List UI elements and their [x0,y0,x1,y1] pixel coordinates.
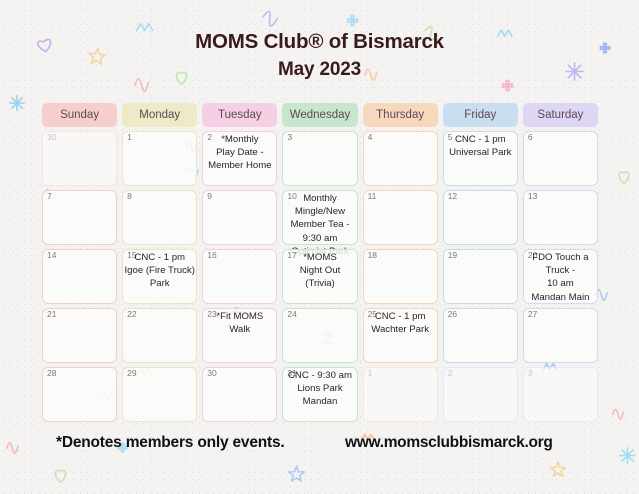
day-cell[interactable]: 22 [122,308,197,363]
calendar-weeks: 3012*Monthly Play Date - Member Home345C… [42,131,598,422]
day-number: 16 [207,251,216,260]
day-cell[interactable]: 16 [202,249,277,304]
day-cell[interactable]: 11 [363,190,438,245]
day-number: 24 [287,310,296,319]
day-cell[interactable]: 14 [42,249,117,304]
calendar-month-label: May 2023 [0,59,639,81]
calendar-grid: SundayMondayTuesdayWednesdayThursdayFrid… [42,103,598,426]
day-number: 1 [127,133,132,142]
day-number: 28 [47,369,56,378]
day-number: 1 [368,369,373,378]
weekday-header-thursday: Thursday [363,103,438,127]
day-cell[interactable]: 7 [42,190,117,245]
day-cell[interactable]: 18 [363,249,438,304]
day-number: 27 [528,310,537,319]
day-event-text[interactable]: *Fit MOMS Walk [200,310,279,336]
day-cell[interactable]: 27 [523,308,598,363]
day-cell[interactable]: 1 [363,367,438,422]
weekday-header-friday: Friday [443,103,518,127]
weekday-header-monday: Monday [122,103,197,127]
day-cell[interactable]: 10Monthly Mingle/New Member Tea - 9:30 a… [282,190,357,245]
members-only-note: *Denotes members only events. [56,434,285,452]
day-cell[interactable]: 4 [363,131,438,186]
weekday-header-wednesday: Wednesday [282,103,357,127]
day-number: 18 [368,251,377,260]
day-number: 4 [368,133,373,142]
day-number: 12 [448,192,457,201]
weekday-header-saturday: Saturday [523,103,598,127]
day-cell[interactable]: 13 [523,190,598,245]
day-cell[interactable]: 15CNC - 1 pm Igoe (Fire Truck) Park [122,249,197,304]
day-cell[interactable]: 17*MOMS Night Out (Trivia) [282,249,357,304]
calendar-week-row: 28293031CNC - 9:30 am Lions Park Mandan1… [42,367,598,422]
calendar-header: MOMS Club® of Bismarck May 2023 [0,30,639,81]
day-number: 3 [528,369,533,378]
day-number: 6 [528,133,533,142]
day-cell[interactable]: 9 [202,190,277,245]
page-title: MOMS Club® of Bismarck [0,30,639,54]
day-event-text[interactable]: CNC - 1 pm Igoe (Fire Truck) Park [120,251,199,291]
day-event-text[interactable]: CNC - 9:30 am Lions Park Mandan [280,369,359,409]
day-number: 8 [127,192,132,201]
day-cell[interactable]: 26 [443,308,518,363]
day-cell[interactable]: 21 [42,308,117,363]
calendar-week-row: 3012*Monthly Play Date - Member Home345C… [42,131,598,186]
day-event-text[interactable]: *Monthly Play Date - Member Home [200,133,279,173]
day-cell[interactable]: 28 [42,367,117,422]
day-cell[interactable]: 3 [282,131,357,186]
day-cell[interactable]: 1 [122,131,197,186]
weekday-header-row: SundayMondayTuesdayWednesdayThursdayFrid… [42,103,598,127]
day-number: 11 [368,192,377,201]
day-number: 30 [207,369,216,378]
day-cell[interactable]: 8 [122,190,197,245]
day-event-text[interactable]: CNC - 1 pm Wachter Park [361,310,440,336]
day-cell[interactable]: 23*Fit MOMS Walk [202,308,277,363]
day-cell[interactable]: 30 [202,367,277,422]
calendar-week-row: 212223*Fit MOMS Walk2425CNC - 1 pm Wacht… [42,308,598,363]
day-number: 14 [47,251,56,260]
day-cell[interactable]: 12 [443,190,518,245]
day-number: 9 [207,192,212,201]
day-number: 21 [47,310,56,319]
day-cell[interactable]: 20FDO Touch a Truck - 10 am Mandan Main [523,249,598,304]
day-number: 2 [448,369,453,378]
day-cell[interactable]: 31CNC - 9:30 am Lions Park Mandan [282,367,357,422]
day-cell[interactable]: 29 [122,367,197,422]
day-number: 19 [448,251,457,260]
calendar-week-row: 78910Monthly Mingle/New Member Tea - 9:3… [42,190,598,245]
day-event-text[interactable]: FDO Touch a Truck - 10 am Mandan Main [521,251,600,304]
day-cell[interactable]: 24 [282,308,357,363]
day-cell[interactable]: 30 [42,131,117,186]
weekday-header-sunday: Sunday [42,103,117,127]
day-number: 7 [47,192,52,201]
day-event-text[interactable]: *MOMS Night Out (Trivia) [280,251,359,291]
day-cell[interactable]: 6 [523,131,598,186]
day-cell[interactable]: 3 [523,367,598,422]
day-number: 3 [287,133,292,142]
day-event-text[interactable]: CNC - 1 pm Universal Park [441,133,520,159]
website-link[interactable]: www.momsclubbismarck.org [345,434,553,452]
day-cell[interactable]: 25CNC - 1 pm Wachter Park [363,308,438,363]
day-cell[interactable]: 2*Monthly Play Date - Member Home [202,131,277,186]
day-cell[interactable]: 2 [443,367,518,422]
calendar-week-row: 1415CNC - 1 pm Igoe (Fire Truck) Park161… [42,249,598,304]
day-cell[interactable]: 19 [443,249,518,304]
day-number: 30 [47,133,56,142]
day-number: 13 [528,192,537,201]
day-number: 29 [127,369,136,378]
weekday-header-tuesday: Tuesday [202,103,277,127]
day-number: 22 [127,310,136,319]
day-cell[interactable]: 5CNC - 1 pm Universal Park [443,131,518,186]
day-number: 26 [448,310,457,319]
